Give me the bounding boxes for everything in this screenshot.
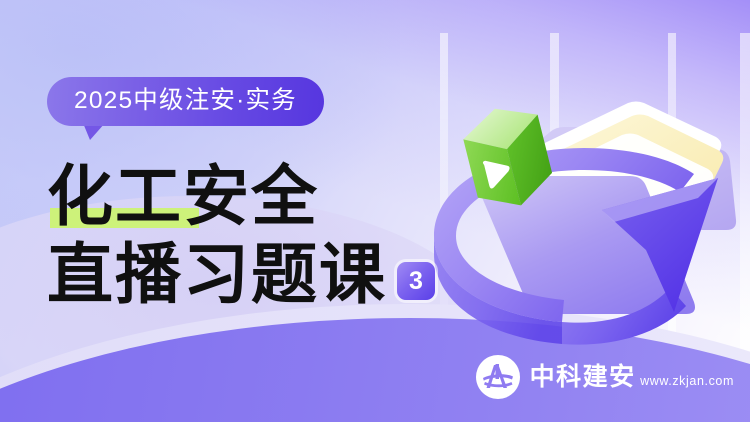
zkjan-circular-logo-icon — [475, 354, 521, 400]
brand-logo: 中科建安 www.zkjan.com — [475, 354, 734, 400]
course-category-label: 2025中级注安·实务 — [74, 89, 297, 114]
course-category-badge: 2025中级注安·实务 — [47, 77, 324, 126]
headline-line-1: 化工安全 — [47, 157, 435, 231]
episode-number-badge: 3 — [397, 262, 435, 300]
hero-illustration — [398, 6, 750, 356]
headline-line-2-text: 直播习题课 — [47, 239, 387, 309]
brand-logo-text: 中科建安 www.zkjan.com — [530, 364, 734, 390]
headline-block: 化工安全 直播习题课 3 — [47, 157, 435, 309]
headline-line-1-text: 化工安全 — [47, 161, 319, 231]
brand-url: www.zkjan.com — [640, 374, 734, 388]
brand-name: 中科建安 — [530, 363, 636, 391]
course-banner: 2025中级注安·实务 化工安全 直播习题课 3 中科建安 www.zkjan. — [0, 0, 750, 422]
headline-line-2: 直播习题课 3 — [47, 235, 435, 309]
